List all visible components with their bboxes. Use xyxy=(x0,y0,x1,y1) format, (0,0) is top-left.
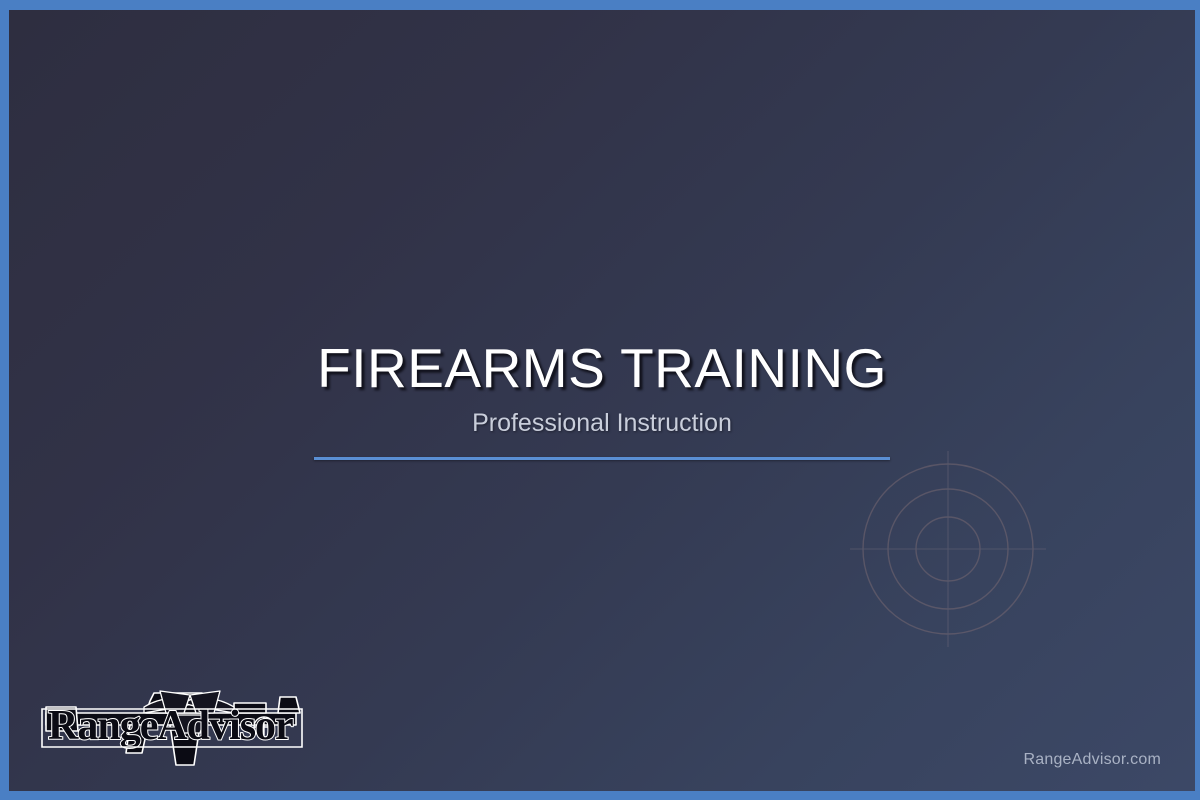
footer-url: RangeAdvisor.com xyxy=(1024,751,1162,769)
page-subtitle: Professional Instruction xyxy=(9,410,1195,438)
brand-logo-text: RangeAdvisor xyxy=(48,703,293,749)
slide-canvas: FIREARMS TRAINING Professional Instructi… xyxy=(9,10,1195,791)
title-block: FIREARMS TRAINING Professional Instructi… xyxy=(9,340,1195,460)
crosshair-target-icon xyxy=(848,449,1048,649)
presentation-slide: FIREARMS TRAINING Professional Instructi… xyxy=(0,0,1200,800)
page-title: FIREARMS TRAINING xyxy=(9,340,1195,398)
brand-logo: RangeAdvisor xyxy=(34,673,319,770)
accent-divider xyxy=(314,457,890,460)
